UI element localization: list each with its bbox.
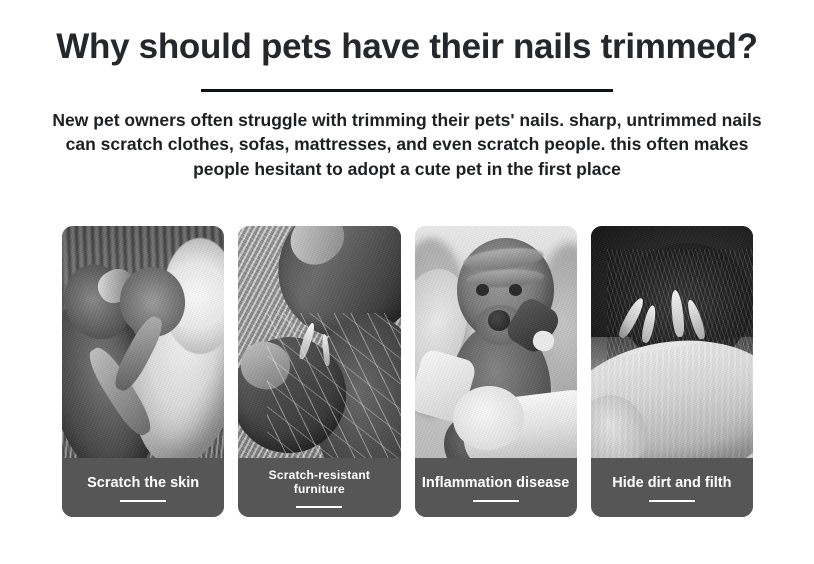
banner-header: Why should pets have their nails trimmed… [0,0,814,182]
banner-body-text: New pet owners often struggle with trimm… [49,108,765,183]
feature-card-scratch-the-skin[interactable]: Scratch the skin [62,226,224,517]
caption-underline [649,500,695,502]
card-caption: Scratch-resistant furniture [238,458,400,517]
card-caption: Scratch the skin [62,458,224,517]
feature-card-row: Scratch the skin Scratch-resistant furni… [62,226,753,517]
feature-card-inflammation-disease[interactable]: Inflammation disease [415,226,577,517]
card-caption: Inflammation disease [415,458,577,517]
caption-underline [473,500,519,502]
card-caption: Hide dirt and filth [591,458,753,517]
feature-card-hide-dirt-and-filth[interactable]: Hide dirt and filth [591,226,753,517]
caption-underline [296,506,342,508]
caption-underline [120,500,166,502]
card-caption-text: Inflammation disease [422,475,569,492]
feature-card-scratch-resistant-furniture[interactable]: Scratch-resistant furniture [238,226,400,517]
card-caption-text: Scratch-resistant furniture [269,469,370,497]
title-divider [201,89,613,92]
promo-banner: Why should pets have their nails trimmed… [0,0,814,564]
card-caption-text: Hide dirt and filth [612,475,731,492]
card-caption-text: Scratch the skin [87,475,199,492]
page-title: Why should pets have their nails trimmed… [0,28,814,67]
